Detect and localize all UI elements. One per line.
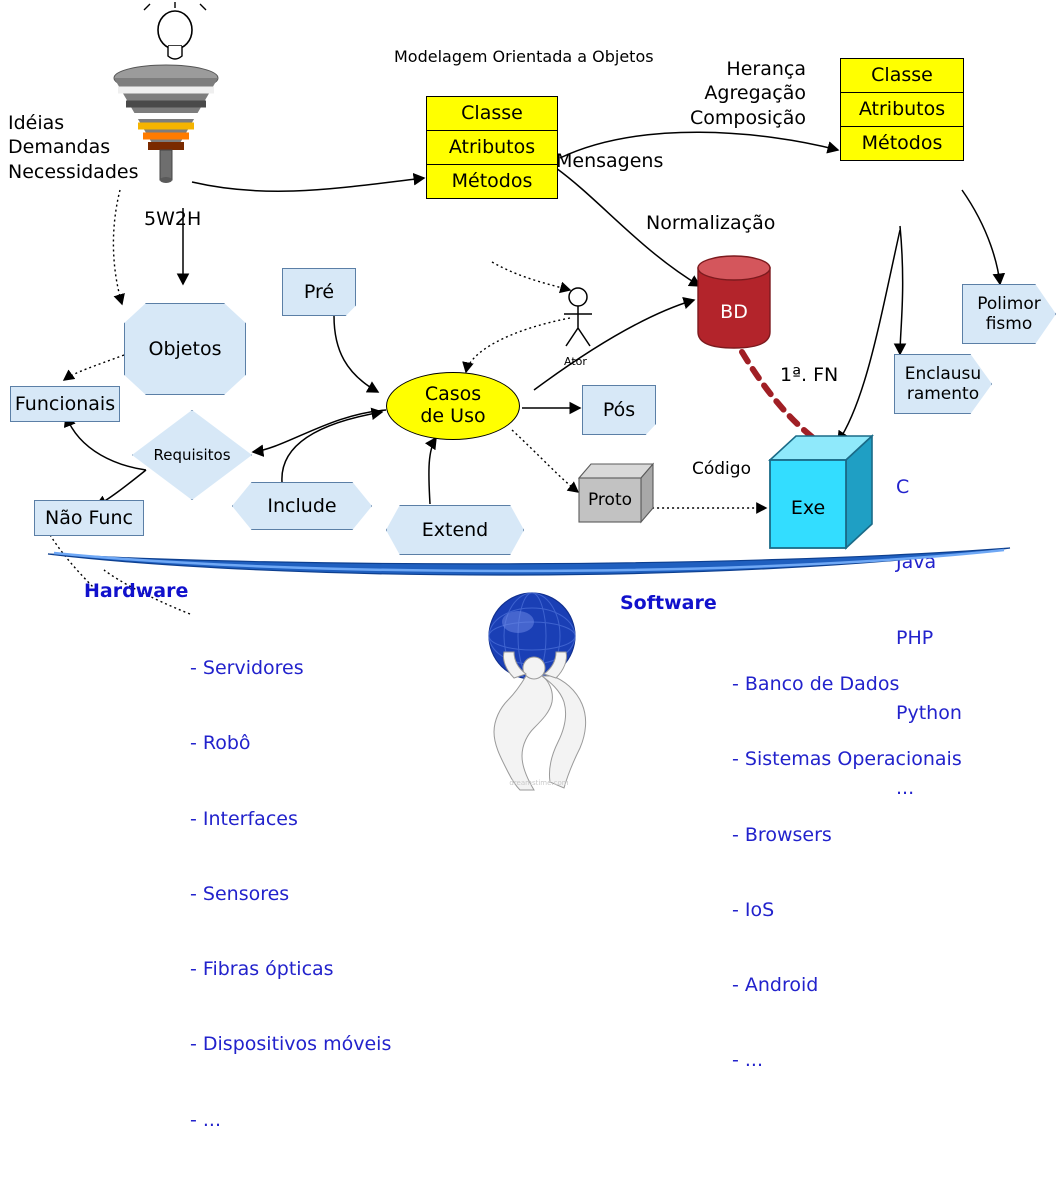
exe-node[interactable]: Exe <box>768 434 874 560</box>
ideas-label: Idéias Demandas Necessidades <box>8 111 138 184</box>
database-cylinder-icon[interactable]: BD <box>690 254 794 362</box>
class-right-attributes: Atributos <box>841 93 963 127</box>
hardware-item: - Dispositivos móveis <box>190 1032 391 1057</box>
5w2h-label: 5W2H <box>144 207 201 231</box>
class-right-methods: Métodos <box>841 127 963 160</box>
class-left-box[interactable]: Classe Atributos Métodos <box>426 96 558 199</box>
objetos-node[interactable]: Objetos <box>124 303 246 395</box>
hardware-item: - Interfaces <box>190 807 391 832</box>
svg-text:Proto: Proto <box>588 490 632 510</box>
pre-label: Pré <box>304 281 334 303</box>
svg-text:dreamstime.com: dreamstime.com <box>509 779 568 787</box>
diagram-canvas: Modelagem Orientada a Objetos Idéias Dem… <box>0 0 1058 794</box>
atlas-globe-icon: dreamstime.com <box>464 590 614 798</box>
polimorfismo-node[interactable]: Polimor fismo <box>962 284 1056 344</box>
funcionais-node[interactable]: Funcionais <box>10 386 120 422</box>
class-left-name: Classe <box>427 97 557 131</box>
hardware-item: - Sensores <box>190 882 391 907</box>
encapsulamento-label: Enclausu ramento <box>905 364 981 405</box>
hardware-item: - Servidores <box>190 656 391 681</box>
nao-func-label: Não Func <box>45 507 133 529</box>
language-item: C <box>896 475 962 500</box>
hardware-list: - Servidores - Robô - Interfaces - Senso… <box>190 606 391 1183</box>
proto-node[interactable]: Proto <box>578 462 654 528</box>
software-title: Software <box>620 592 717 614</box>
class-left-attributes: Atributos <box>427 131 557 165</box>
lightbulb-icon <box>140 2 210 68</box>
requisitos-label: Requisitos <box>153 446 230 464</box>
requisitos-node[interactable]: Requisitos <box>132 410 252 500</box>
stick-figure-icon <box>556 286 600 358</box>
class-left-methods: Métodos <box>427 165 557 198</box>
page-title: Modelagem Orientada a Objetos <box>394 47 654 66</box>
software-list: - Banco de Dados - Sistemas Operacionais… <box>732 622 962 1124</box>
pos-label: Pós <box>603 399 635 421</box>
nao-func-node[interactable]: Não Func <box>34 500 144 536</box>
svg-text:BD: BD <box>720 301 748 323</box>
software-item: - Browsers <box>732 823 962 848</box>
objetos-label: Objetos <box>149 338 222 360</box>
pos-node[interactable]: Pós <box>582 385 656 435</box>
casos-de-uso-node[interactable]: Casos de Uso <box>386 372 520 440</box>
software-item: - IoS <box>732 898 962 923</box>
hardware-item: - Fibras ópticas <box>190 957 391 982</box>
software-item: - ... <box>732 1048 962 1073</box>
software-item: - Banco de Dados <box>732 672 962 697</box>
class-right-box[interactable]: Classe Atributos Métodos <box>840 58 964 161</box>
normalizacao-label: Normalização <box>646 211 775 235</box>
include-node[interactable]: Include <box>232 482 372 530</box>
include-label: Include <box>267 495 336 517</box>
svg-text:Exe: Exe <box>791 497 825 519</box>
extend-label: Extend <box>422 519 489 541</box>
mensagens-label: Mensagens <box>556 149 663 173</box>
normal-form-item: 1ª. FN <box>780 362 838 390</box>
pre-node[interactable]: Pré <box>282 268 356 316</box>
polimorfismo-label: Polimor fismo <box>977 294 1040 335</box>
funcionais-label: Funcionais <box>15 393 115 415</box>
codigo-label: Código <box>692 459 751 479</box>
heranca-label: Herança Agregação Composição <box>690 57 806 130</box>
encapsulamento-node[interactable]: Enclausu ramento <box>894 354 992 414</box>
ator-label: Ator <box>564 355 587 368</box>
hardware-item: - ... <box>190 1108 391 1133</box>
software-item: - Sistemas Operacionais <box>732 747 962 772</box>
class-right-name: Classe <box>841 59 963 93</box>
blue-platform-icon <box>44 544 1014 592</box>
casos-de-uso-label: Casos de Uso <box>420 384 485 428</box>
hardware-title: Hardware <box>84 580 188 602</box>
software-item: - Android <box>732 973 962 998</box>
hardware-item: - Robô <box>190 731 391 756</box>
